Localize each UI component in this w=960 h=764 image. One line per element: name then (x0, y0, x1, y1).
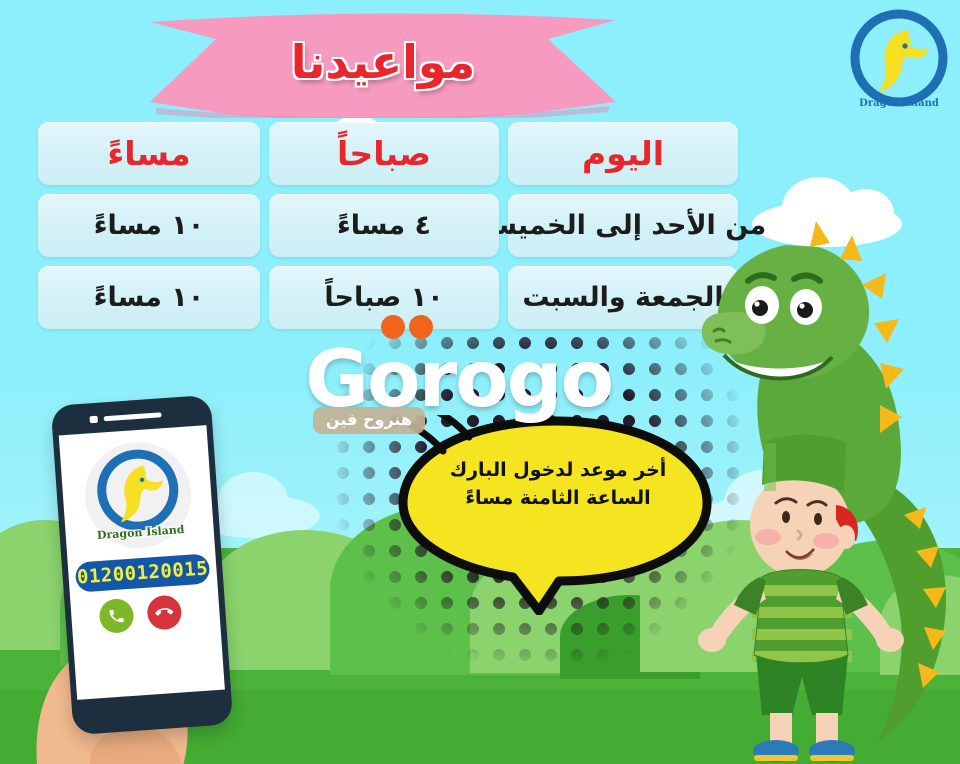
page-title: مواعيدنا (148, 6, 618, 118)
column-header-day: اليوم (508, 122, 738, 185)
cell-evening: ١٠ مساءً (38, 194, 260, 257)
phone-accept-icon[interactable] (98, 598, 134, 634)
phone-number: 01200120015 (75, 553, 211, 592)
dragon-island-logo: Dragon Island (845, 8, 953, 116)
column-header-morning: صباحاً (269, 122, 499, 185)
phone-mockup: Dragon Island 01200120015 (51, 395, 234, 735)
notice-line-2: الساعة الثامنة مساءً (445, 485, 671, 513)
cell-morning: ٤ مساءً (269, 194, 499, 257)
cell-evening: ١٠ مساءً (38, 266, 260, 329)
watermark-dot-icon (381, 315, 405, 339)
dragon-mascot-icon (690, 185, 960, 764)
watermark-tagline: هنروح فين (313, 407, 425, 434)
phone-camera-icon (89, 416, 97, 424)
phone-caller-logo: Dragon Island (82, 439, 195, 552)
schedule-table: اليوم صباحاً مساءً من الأحد إلى الخميس ٤… (38, 122, 738, 338)
phone-screen: Dragon Island 01200120015 (59, 425, 225, 700)
svg-text:Dragon Island: Dragon Island (97, 523, 186, 542)
banner-ribbon: مواعيدنا (148, 6, 618, 118)
column-header-evening: مساءً (38, 122, 260, 185)
poster-canvas: مواعيدنا اليوم صباحاً مساءً من الأحد إلى… (0, 0, 960, 764)
phone-decline-icon[interactable] (146, 594, 182, 630)
watermark-dot-icon (409, 315, 433, 339)
svg-text:Dragon Island: Dragon Island (859, 98, 939, 109)
speech-bubble-icon: أخر موعد لدخول البارك الساعة الثامنة مسا… (385, 415, 725, 615)
table-row: من الأحد إلى الخميس ٤ مساءً ١٠ مساءً (38, 194, 738, 257)
table-header-row: اليوم صباحاً مساءً (38, 122, 738, 185)
watermark: Gorogo هنروح فين (305, 335, 645, 445)
notice-line-1: أخر موعد لدخول البارك (445, 457, 671, 485)
notice-text: أخر موعد لدخول البارك الساعة الثامنة مسا… (445, 457, 671, 512)
